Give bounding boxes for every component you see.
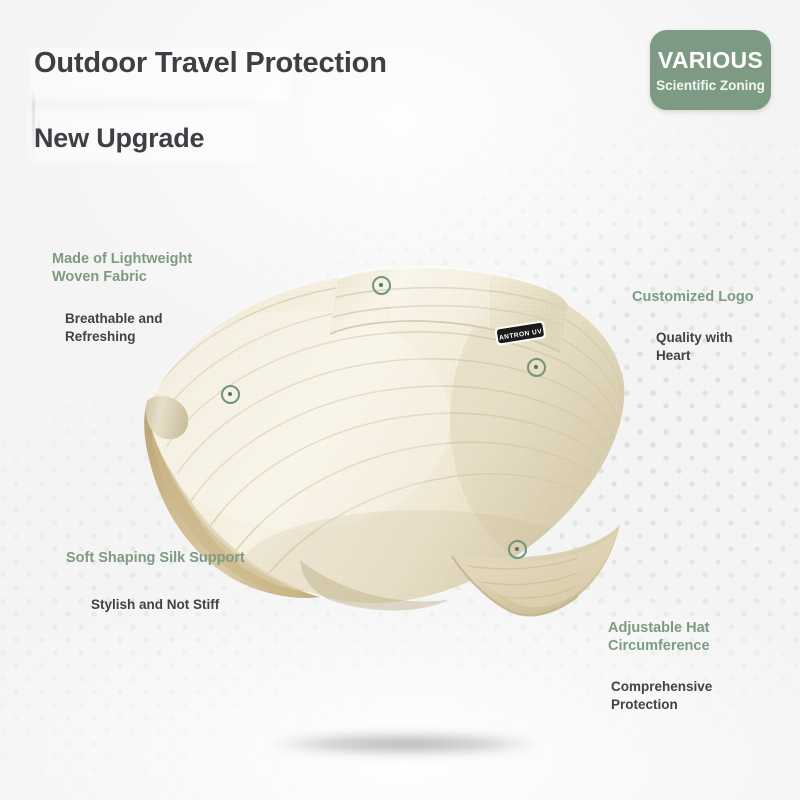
annotation-soft-shaping-silk-support: Soft Shaping Silk Support Stylish and No… <box>66 549 245 614</box>
marker-brim-bottom <box>508 540 527 559</box>
marker-logo-tag <box>527 358 546 377</box>
page-title: Outdoor Travel Protection <box>34 48 594 80</box>
page-subtitle: New Upgrade <box>34 124 594 154</box>
svg-text:ANTRON UV: ANTRON UV <box>499 328 543 342</box>
badge-title: VARIOUS <box>658 49 763 72</box>
annotation-lightweight-woven-fabric: Made of Lightweight Woven Fabric Breatha… <box>52 250 192 345</box>
annotation-body: Stylish and Not Stiff <box>91 596 245 614</box>
annotation-heading: Customized Logo <box>632 288 754 306</box>
annotation-body: Quality with Heart <box>656 329 754 364</box>
annotation-adjustable-hat-circumference: Adjustable Hat Circumference Comprehensi… <box>608 619 712 713</box>
various-scientific-zoning-badge: VARIOUS Scientific Zoning <box>650 30 771 110</box>
product-infographic: ANTRON UV Outdoor Travel Protection New … <box>0 0 800 800</box>
badge-subtitle: Scientific Zoning <box>656 78 765 94</box>
annotation-heading: Soft Shaping Silk Support <box>66 549 245 567</box>
marker-crown-top <box>372 276 391 295</box>
header-text-block: Outdoor Travel Protection New Upgrade <box>34 48 594 154</box>
annotation-body: Breathable and Refreshing <box>65 310 192 345</box>
marker-brim-left <box>221 385 240 404</box>
annotation-heading: Made of Lightweight Woven Fabric <box>52 250 192 286</box>
logo-tag: ANTRON UV <box>494 320 546 346</box>
annotation-heading: Adjustable Hat Circumference <box>608 619 712 655</box>
annotation-body: Comprehensive Protection <box>611 678 712 713</box>
annotation-customized-logo: Customized Logo Quality with Heart <box>632 288 754 364</box>
product-drop-shadow <box>270 733 540 755</box>
